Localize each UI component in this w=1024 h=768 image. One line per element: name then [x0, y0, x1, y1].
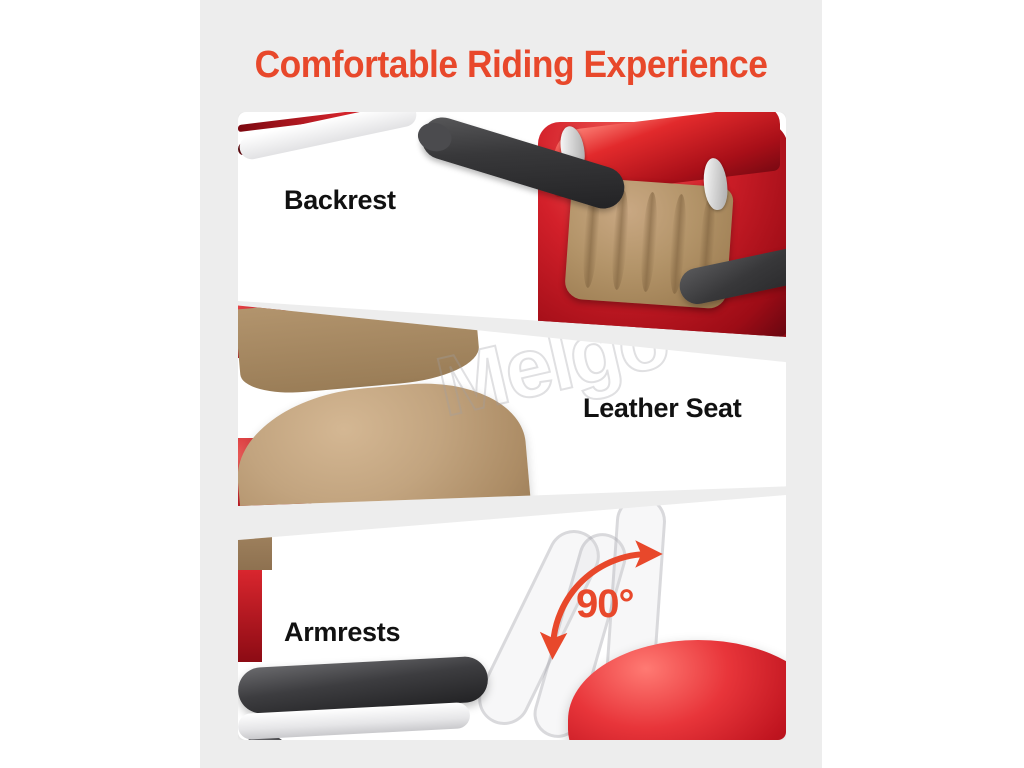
seat-post-red — [238, 570, 262, 662]
armrest-right-inlay — [238, 112, 419, 161]
armrest-tip — [414, 119, 455, 156]
backrest-photo — [238, 112, 786, 337]
rotation-angle-value: 90° — [576, 582, 634, 627]
backrest-scene — [238, 112, 786, 337]
page-title: Comfortable Riding Experience — [222, 46, 800, 84]
panel-label-leather-seat: Leather Seat — [583, 393, 741, 424]
feature-panel-backrest[interactable]: Backrest — [238, 112, 786, 337]
panel-label-armrests: Armrests — [284, 617, 400, 648]
product-feature-graphic: Comfortable Riding Experience — [0, 0, 1024, 768]
panel-label-backrest: Backrest — [284, 185, 396, 216]
quilt-crease — [639, 192, 660, 293]
leather-seat-cushion — [238, 375, 535, 506]
